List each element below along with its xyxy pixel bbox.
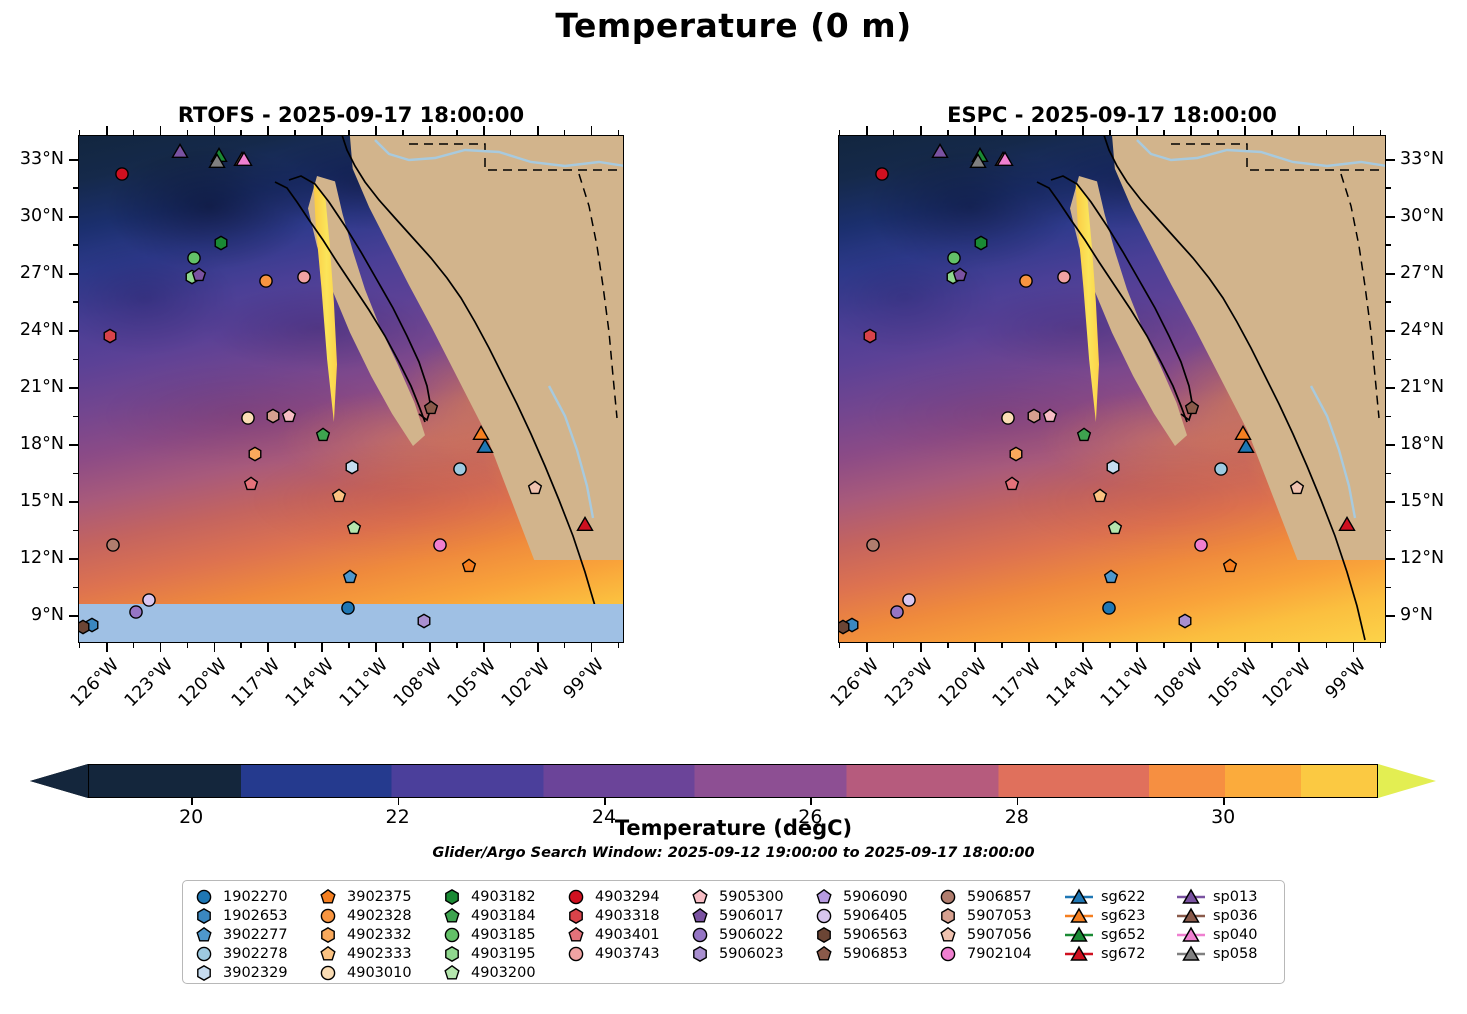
map-panel-espc[interactable] [838,135,1386,643]
lat-tick-minor [1386,187,1391,189]
legend-label: 4903185 [465,927,536,943]
argo-pentagon-icon [811,889,837,905]
legend-label: 3902277 [217,927,288,943]
argo-hexagon-icon [315,927,341,943]
argo-circle-icon [439,927,465,943]
lon-tick-top [240,130,242,135]
lat-label: 30°N [1400,206,1444,226]
lon-tick-top [1055,130,1057,135]
platform-marker-5905300 [282,408,297,423]
legend-item-5906405[interactable]: 5906405 [811,906,908,925]
lon-tick-top [1109,130,1111,135]
platform-legend[interactable]: 1902270190265339022773902278390232939023… [182,880,1285,984]
search-window-caption: Glider/Argo Search Window: 2025-09-12 19… [0,845,1467,861]
legend-item-1902653[interactable]: 1902653 [191,906,288,925]
legend-item-4903401[interactable]: 4903401 [563,925,660,944]
platform-marker-5906563 [78,619,90,634]
lon-tick-top [618,130,620,135]
lat-tick-minor [1386,359,1391,361]
platform-marker-4903010 [1001,410,1016,425]
argo-hexagon-icon [935,908,961,924]
legend-item-4903743[interactable]: 4903743 [563,945,660,964]
lat-tick-minor [1386,530,1391,532]
platform-marker-4903200 [346,520,361,535]
platform-marker-5906857 [106,538,121,553]
platform-marker-7902104 [1194,538,1209,553]
argo-circle-icon [191,946,217,962]
lon-tick-minor [564,643,566,648]
legend-label: 4903200 [465,965,536,981]
lon-tick-minor [510,643,512,648]
legend-label: 1902270 [217,889,288,905]
legend-column-3: 4903294490331849034014903743 [563,887,660,964]
argo-hexagon-icon [687,946,713,962]
lat-tick [69,273,78,275]
platform-marker-5906017 [192,267,207,282]
legend-label: 5906090 [837,889,908,905]
lon-tick [267,643,269,652]
platform-marker-5906853 [1185,401,1200,416]
legend-item-5906017[interactable]: 5906017 [687,906,784,925]
legend-column-0: 19022701902653390227739022783902329 [191,887,288,983]
lat-label: 33°N [20,149,64,169]
lat-tick [1386,444,1395,446]
colorbar[interactable]: 202224262830 [28,764,1440,798]
lon-tick [1298,643,1300,652]
legend-item-sp013[interactable]: sp013 [1175,887,1257,906]
lat-label: 18°N [20,434,64,454]
colorbar-tick [398,798,400,805]
legend-column-1: 39023754902328490233249023334903010 [315,887,412,983]
legend-label: 5906563 [837,927,908,943]
legend-item-4903200[interactable]: 4903200 [439,964,536,983]
lon-tick-top [510,130,512,135]
legend-label: 4902333 [341,946,412,962]
platform-marker-5906017 [952,267,967,282]
lon-tick-top [591,126,593,135]
legend-label: 5906857 [961,889,1032,905]
legend-item-4902333[interactable]: 4902333 [315,945,412,964]
legend-label: sg623 [1095,908,1145,924]
legend-item-5906853[interactable]: 5906853 [811,945,908,964]
lon-tick-top [294,130,296,135]
glider-marker-icon [1175,907,1207,925]
platform-marker-sg623 [1233,425,1252,444]
argo-pentagon-icon [315,889,341,905]
platform-marker-4903318 [102,328,117,343]
lon-tick-top [187,130,189,135]
legend-label: 5907056 [961,927,1032,943]
lat-tick-minor [73,473,78,475]
lat-tick [69,330,78,332]
lat-tick-minor [1386,587,1391,589]
legend-label: 4902328 [341,908,412,924]
lon-tick-minor [133,643,135,648]
platform-marker-3902277 [1104,570,1119,585]
lon-tick-top [1298,126,1300,135]
map-panel-rtofs[interactable] [78,135,624,643]
colorbar-tick [1017,798,1019,805]
legend-column-4: 5905300590601759060225906023 [687,887,784,964]
page-title: Temperature (0 m) [0,6,1467,45]
lat-tick [69,444,78,446]
lon-tick-top [214,126,216,135]
lat-tick-minor [73,359,78,361]
lon-tick [1353,643,1355,652]
lon-tick-minor [893,643,895,648]
platform-marker-5907053 [265,408,280,423]
legend-label: 4903184 [465,908,536,924]
argo-hexagon-icon [191,908,217,924]
legend-item-sp036[interactable]: sp036 [1175,906,1257,925]
lon-tick-top [1082,126,1084,135]
lon-tick-top [429,126,431,135]
lat-tick-minor [73,416,78,418]
lat-tick [69,159,78,161]
lon-tick [920,643,922,652]
legend-label: 5905300 [713,889,784,905]
legend-item-4903184[interactable]: 4903184 [439,906,536,925]
lat-tick-minor [73,530,78,532]
lat-tick [1386,501,1395,503]
lon-tick-top [1271,130,1273,135]
lon-tick-top [456,130,458,135]
colorbar-tick [604,798,606,805]
legend-label: sg622 [1095,889,1145,905]
lon-tick [321,643,323,652]
lat-tick [1386,387,1395,389]
lat-tick [1386,330,1395,332]
legend-item-5906023[interactable]: 5906023 [687,945,784,964]
lon-tick [106,643,108,652]
lat-label: 24°N [20,320,64,340]
legend-label: 4903195 [465,946,536,962]
platform-marker-4902328 [258,273,273,288]
platform-marker-4903294 [875,167,890,182]
platform-marker-sg672 [576,517,595,536]
legend-item-4903294[interactable]: 4903294 [563,887,660,906]
lon-tick-minor [839,643,841,648]
platform-marker-4902328 [1019,273,1034,288]
argo-pentagon-icon [439,965,465,981]
argo-pentagon-icon [935,927,961,943]
lat-tick-minor [73,244,78,246]
lon-tick [214,643,216,652]
glider-marker-icon [1175,945,1207,963]
lon-tick-minor [294,643,296,648]
legend-item-4902328[interactable]: 4902328 [315,906,412,925]
platform-marker-4903184 [316,427,331,442]
colorbar-tick [810,798,812,805]
colorbar-tick [1223,798,1225,805]
legend-item-4903195[interactable]: 4903195 [439,945,536,964]
lon-tick [483,643,485,652]
lon-tick-top [483,126,485,135]
colorbar-gradient [88,764,1378,798]
lat-tick [69,216,78,218]
argo-hexagon-icon [811,927,837,943]
glider-marker-icon [1175,926,1207,944]
legend-label: sp013 [1207,889,1257,905]
lon-tick-top [839,130,841,135]
argo-circle-icon [315,908,341,924]
platform-marker-5907053 [1026,408,1041,423]
lon-tick [974,643,976,652]
platform-marker-1902270 [1102,600,1117,615]
platform-marker-4903010 [240,410,255,425]
lat-label: 15°N [1400,491,1444,511]
legend-item-4903182[interactable]: 4903182 [439,887,536,906]
legend-item-5907053[interactable]: 5907053 [935,906,1032,925]
lat-label: 21°N [20,377,64,397]
lon-tick [1136,643,1138,652]
lon-tick [591,643,593,652]
glider-marker-icon [1063,926,1095,944]
legend-item-sg672[interactable]: sg672 [1063,945,1145,964]
lat-label: 15°N [20,491,64,511]
lon-tick-minor [456,643,458,648]
lat-label: 9°N [1400,605,1433,625]
lat-label: 21°N [1400,377,1444,397]
platform-marker-3902375 [1223,558,1238,573]
platform-marker-3902375 [461,558,476,573]
legend-item-5907056[interactable]: 5907056 [935,925,1032,944]
platform-marker-sp058 [968,153,987,172]
lon-tick-minor [618,643,620,648]
platform-marker-4903401 [1005,477,1020,492]
platform-marker-sp013 [930,144,949,163]
colorbar-tick [191,798,193,805]
platform-marker-5906857 [866,538,881,553]
platform-marker-4903743 [296,269,311,284]
legend-item-4902332[interactable]: 4902332 [315,925,412,944]
lon-tick-minor [79,643,81,648]
lon-tick-top [1353,126,1355,135]
legend-column-5: 5906090590640559065635906853 [811,887,908,964]
platform-marker-3902329 [1106,460,1121,475]
lat-tick-minor [1386,416,1391,418]
platform-marker-5906023 [1178,614,1193,629]
glider-marker-icon [1063,945,1095,963]
lon-tick-top [402,130,404,135]
platform-marker-1902270 [341,600,356,615]
legend-item-5905300[interactable]: 5905300 [687,887,784,906]
platform-marker-4903294 [115,167,130,182]
platform-marker-4903743 [1057,269,1072,284]
lon-tick-top [321,126,323,135]
lon-tick-top [866,126,868,135]
legend-label: 5906022 [713,927,784,943]
argo-pentagon-icon [811,946,837,962]
colorbar-extend-max [1378,764,1436,798]
legend-label: sg672 [1095,946,1145,962]
legend-label: 5907053 [961,908,1032,924]
platform-marker-5906853 [424,401,439,416]
legend-label: sg652 [1095,927,1145,943]
platform-marker-3902278 [1214,461,1229,476]
legend-item-sg623[interactable]: sg623 [1063,906,1145,925]
legend-label: 4903182 [465,889,536,905]
legend-label: 4903743 [589,946,660,962]
lon-tick-top [893,130,895,135]
glider-marker-icon [1063,907,1095,925]
platform-marker-4903182 [974,235,989,250]
argo-hexagon-icon [439,946,465,962]
lat-label: 12°N [1400,548,1444,568]
legend-item-sg622[interactable]: sg622 [1063,887,1145,906]
platform-marker-4903182 [213,235,228,250]
legend-item-3902375[interactable]: 3902375 [315,887,412,906]
legend-label: 3902329 [217,965,288,981]
legend-label: 5906853 [837,946,908,962]
lon-tick-minor [1001,643,1003,648]
legend-label: 5906017 [713,908,784,924]
argo-pentagon-icon [563,927,589,943]
lat-tick-minor [73,301,78,303]
lon-tick-top [974,126,976,135]
legend-item-1902270[interactable]: 1902270 [191,887,288,906]
platform-marker-4903200 [1107,520,1122,535]
platform-marker-4903401 [244,477,259,492]
lat-tick-minor [73,587,78,589]
lat-tick [1386,615,1395,617]
legend-item-sg652[interactable]: sg652 [1063,925,1145,944]
panel-title-rtofs: RTOFS - 2025-09-17 18:00:00 [78,103,624,127]
legend-item-sp040[interactable]: sp040 [1175,925,1257,944]
lon-tick-minor [348,643,350,648]
lon-tick-top [160,126,162,135]
platform-marker-5907056 [1289,480,1304,495]
platform-marker-5906023 [416,614,431,629]
legend-label: sp040 [1207,927,1257,943]
glider-marker-icon [1175,888,1207,906]
lat-label: 27°N [1400,263,1444,283]
lat-label: 30°N [20,206,64,226]
lat-tick [69,501,78,503]
legend-item-5906857[interactable]: 5906857 [935,887,1032,906]
lon-tick-top [537,126,539,135]
lon-tick-top [1136,126,1138,135]
lon-tick-top [1028,126,1030,135]
argo-hexagon-icon [191,965,217,981]
legend-item-5906563[interactable]: 5906563 [811,925,908,944]
lat-tick-minor [73,187,78,189]
lon-tick-minor [1109,643,1111,648]
platform-marker-4903184 [1077,427,1092,442]
lon-tick-top [564,130,566,135]
lat-label: 33°N [1400,149,1444,169]
argo-circle-icon [687,927,713,943]
platform-marker-7902104 [433,538,448,553]
lat-tick-minor [1386,473,1391,475]
legend-label: sp036 [1207,908,1257,924]
platform-marker-4903185 [186,250,201,265]
lon-tick-top [920,126,922,135]
lon-tick-top [133,130,135,135]
legend-label: 7902104 [961,946,1032,962]
lon-tick-top [1190,126,1192,135]
legend-label: 4903318 [589,908,660,924]
lon-tick-top [1001,130,1003,135]
lat-tick [1386,159,1395,161]
platform-marker-sg672 [1338,517,1357,536]
platform-marker-3902277 [343,570,358,585]
lon-tick-minor [402,643,404,648]
argo-pentagon-icon [315,946,341,962]
lon-tick [375,643,377,652]
legend-column-7: sg622sg623sg652sg672 [1063,887,1145,964]
lon-tick-top [1244,126,1246,135]
lat-tick-minor [1386,301,1391,303]
colorbar-title: Temperature (degC) [0,816,1467,840]
legend-item-4903185[interactable]: 4903185 [439,925,536,944]
lon-tick [1190,643,1192,652]
colorbar-extend-min [30,764,88,798]
lon-tick-minor [1217,643,1219,648]
platform-marker-4903318 [862,328,877,343]
argo-circle-icon [935,889,961,905]
legend-item-4903010[interactable]: 4903010 [315,964,412,983]
lon-tick [1028,643,1030,652]
legend-item-4903318[interactable]: 4903318 [563,906,660,925]
lat-label: 27°N [20,263,64,283]
legend-item-5906090[interactable]: 5906090 [811,887,908,906]
legend-item-3902277[interactable]: 3902277 [191,925,288,944]
lon-tick-minor [1380,643,1382,648]
platform-marker-5906563 [838,619,850,634]
argo-circle-icon [191,889,217,905]
lon-tick-top [79,130,81,135]
lon-tick [429,643,431,652]
panel-title-espc: ESPC - 2025-09-17 18:00:00 [838,103,1386,127]
platform-marker-4902332 [248,446,263,461]
legend-item-sp058[interactable]: sp058 [1175,945,1257,964]
lon-tick-top [1380,130,1382,135]
legend-item-7902104[interactable]: 7902104 [935,945,1032,964]
lat-tick [1386,273,1395,275]
legend-label: sp058 [1207,946,1257,962]
legend-label: 4903401 [589,927,660,943]
lon-tick-top [348,130,350,135]
argo-circle-icon [935,946,961,962]
lat-label: 12°N [20,548,64,568]
argo-pentagon-icon [687,908,713,924]
platform-marker-4903185 [947,250,962,265]
legend-item-3902329[interactable]: 3902329 [191,964,288,983]
legend-column-2: 49031824903184490318549031954903200 [439,887,536,983]
platform-marker-5906405 [142,593,157,608]
lon-tick-top [1217,130,1219,135]
lon-tick [1082,643,1084,652]
legend-item-3902278[interactable]: 3902278 [191,945,288,964]
platform-marker-4902332 [1008,446,1023,461]
legend-column-6: 5906857590705359070567902104 [935,887,1032,964]
lat-tick [1386,558,1395,560]
lon-tick-minor [187,643,189,648]
legend-label: 4902332 [341,927,412,943]
lon-tick-top [106,126,108,135]
lon-tick-minor [1326,643,1328,648]
glider-marker-icon [1063,888,1095,906]
platform-marker-sp058 [208,153,227,172]
lon-tick [1244,643,1246,652]
legend-item-5906022[interactable]: 5906022 [687,925,784,944]
argo-hexagon-icon [439,889,465,905]
legend-label: 4903010 [341,965,412,981]
argo-pentagon-icon [191,927,217,943]
legend-label: 5906405 [837,908,908,924]
platform-marker-sp013 [170,144,189,163]
